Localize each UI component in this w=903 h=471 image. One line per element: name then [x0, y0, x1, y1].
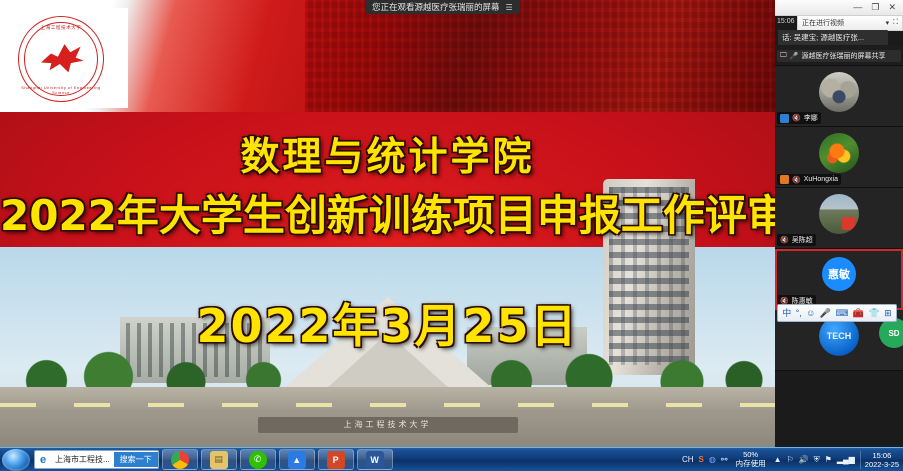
search-button[interactable]: 搜索一下 — [114, 452, 158, 467]
taskbar-app-wechat[interactable]: ✆ — [240, 449, 276, 470]
viewing-screen-label: 您正在观看源越医疗张瑞丽的屏幕 — [372, 1, 500, 13]
taskbar-app-word[interactable]: W — [357, 449, 393, 470]
security-icon[interactable]: ◍ — [709, 455, 716, 464]
screen-share-icon: 🖵 — [780, 52, 787, 60]
taskbar-app-chrome[interactable] — [162, 449, 198, 470]
participant-tile[interactable]: 惠敏 🔇 陈惠敏 — [775, 249, 903, 310]
file-explorer-icon: ▤ — [210, 451, 228, 469]
signal-icon[interactable]: ▂▄▆ — [837, 455, 855, 464]
chevron-down-icon[interactable]: ▾ — [886, 19, 890, 27]
participant-avatar-initials: 惠敏 — [822, 257, 856, 291]
participant-name-row: 🔇 吴陈超 — [777, 234, 816, 246]
ime-emoji-icon[interactable]: ☺ — [806, 309, 815, 318]
ie-address-bar[interactable]: e 上海市工程技... 搜索一下 — [34, 450, 159, 469]
tile-screen-share[interactable]: 🖵 🎤 源越医疗张瑞丽的屏幕共享 — [775, 46, 903, 66]
ime-punctuation-icon[interactable]: °, — [796, 309, 802, 318]
participant-thumbnail: TECH — [819, 316, 859, 356]
seal-top-text: 上海工程技术大学 — [18, 25, 104, 31]
hamburger-icon[interactable]: ☰ — [506, 3, 513, 12]
video-participants-panel: — ❐ ✕ 15:06 正在进行视频 ▾ ⛶ 🖵 🎤 源越医疗张瑞丽的屏幕共享 — [775, 0, 903, 447]
windows-start-orb[interactable] — [2, 449, 30, 471]
panel-subbar-title: 正在进行视频 — [802, 18, 882, 28]
keyboard-icon[interactable]: ⌨ — [835, 309, 848, 318]
internet-explorer-icon: e — [35, 454, 51, 466]
participant-avatar-green: SD — [879, 318, 903, 348]
panel-tooltip: 话: 吴建宝; 源越医疗张... — [778, 30, 888, 45]
host-badge-icon — [780, 114, 789, 123]
antivirus-icon[interactable]: ⛨ — [814, 455, 820, 465]
memory-label: 内存使用 — [736, 460, 766, 468]
expand-icon[interactable]: ⛶ — [893, 19, 898, 27]
university-seal-logo: 上海工程技术大学 Shanghai University of Engineer… — [18, 16, 104, 102]
system-tray: CH S ◍ ⚯ 50% 内存使用 ▲ ⚐ 🔊 ⛨ ⚑ ▂▄▆ 15:06 20… — [682, 451, 903, 469]
sogou-icon[interactable]: S — [699, 455, 704, 464]
slide-heading-college: 数理与统计学院 — [0, 126, 775, 182]
participant-name: 李娜 — [804, 113, 818, 123]
ime-chinese-mode-icon[interactable]: 中 — [782, 309, 791, 318]
action-center-icon[interactable]: ⚐ — [787, 455, 794, 464]
slide-heading-date: 2022年3月25日 — [0, 290, 775, 356]
ime-toolbar[interactable]: 中 °, ☺ 🎤 ⌨ 🧰 👕 ⊞ — [777, 304, 897, 322]
participant-tile-list[interactable]: 🖵 🎤 源越医疗张瑞丽的屏幕共享 🔇 李娜 — [775, 46, 903, 447]
network-icon[interactable]: ⚯ — [721, 455, 728, 464]
participant-tile[interactable]: 🔇 李娜 — [775, 66, 903, 127]
wechat-icon: ✆ — [249, 451, 267, 469]
chrome-icon — [171, 451, 189, 469]
clock-date: 2022-3-25 — [865, 460, 899, 469]
slide-body: 上海工程技术大学 数理与统计学院 2022年大学生创新训练项目申报工作评审会 2… — [0, 112, 775, 447]
screen-root: 上海工程技术大学 Shanghai University of Engineer… — [0, 0, 903, 471]
maximize-icon[interactable]: ❐ — [871, 3, 879, 12]
participant-name: XuHongxia — [804, 176, 838, 183]
mic-muted-icon: 🔇 — [792, 114, 801, 122]
mic-muted-icon: 🔇 — [792, 176, 801, 184]
powerpoint-icon: P — [327, 451, 345, 469]
participant-avatar-tech: TECH — [819, 316, 859, 356]
cohost-badge-icon — [780, 175, 789, 184]
taskbar-clock[interactable]: 15:06 2022-3-25 — [860, 451, 899, 469]
toolbox-icon[interactable]: 🧰 — [853, 309, 864, 318]
apps-icon[interactable]: ⊞ — [884, 309, 892, 318]
participant-name-row: 🔇 李娜 — [777, 112, 821, 124]
ie-address-text: 上海市工程技... — [51, 454, 114, 465]
participant-thumbnail — [819, 72, 859, 112]
plaza-sign-text: 上海工程技术大学 — [258, 417, 518, 433]
clock-time: 15:06 — [865, 451, 899, 460]
campus-plaza: 上海工程技术大学 — [0, 387, 775, 447]
microphone-icon: 🎤 — [790, 52, 799, 60]
close-icon[interactable]: ✕ — [888, 3, 896, 12]
volume-icon[interactable]: 🔊 — [799, 455, 809, 464]
participant-tile[interactable]: 🔇 XuHongxia — [775, 127, 903, 188]
screen-share-label: 源越医疗张瑞丽的屏幕共享 — [801, 51, 885, 61]
ime-indicator[interactable]: CH — [682, 455, 694, 464]
word-icon: W — [366, 451, 384, 469]
slide-heading-title: 2022年大学生创新训练项目申报工作评审会 — [0, 182, 775, 243]
seal-bottom-text: Shanghai University of Engineering Scien… — [18, 85, 104, 95]
microphone-icon[interactable]: 🎤 — [820, 309, 831, 318]
participant-name: 吴陈超 — [792, 235, 813, 245]
minimize-icon[interactable]: — — [853, 3, 862, 12]
shared-screen-content: 上海工程技术大学 Shanghai University of Engineer… — [0, 0, 775, 447]
participant-thumbnail — [819, 194, 859, 234]
xunlei-icon: ▲ — [288, 451, 306, 469]
show-hidden-icons-icon[interactable]: ▲ — [774, 455, 782, 464]
taskbar-app-file-explorer[interactable]: ▤ — [201, 449, 237, 470]
skin-icon[interactable]: 👕 — [869, 309, 880, 318]
taskbar-app-xunlei[interactable]: ▲ — [279, 449, 315, 470]
screen-share-label-row: 🖵 🎤 源越医疗张瑞丽的屏幕共享 — [777, 50, 901, 62]
viewing-screen-toast[interactable]: 您正在观看源越医疗张瑞丽的屏幕 ☰ — [365, 0, 520, 14]
participant-thumbnail — [819, 133, 859, 173]
memory-usage-indicator[interactable]: 50% 内存使用 — [733, 451, 769, 468]
panel-subbar[interactable]: 正在进行视频 ▾ ⛶ — [797, 16, 903, 31]
panel-titlebar: — ❐ ✕ — [775, 0, 903, 16]
panel-clock-overlay: 15:06 — [777, 18, 795, 25]
mic-muted-icon: 🔇 — [780, 236, 789, 244]
slide-banner: 上海工程技术大学 Shanghai University of Engineer… — [0, 0, 775, 112]
windows-taskbar: e 上海市工程技... 搜索一下 ▤ ✆ ▲ P W CH S ◍ ⚯ 50% — [0, 447, 903, 471]
taskbar-app-powerpoint[interactable]: P — [318, 449, 354, 470]
flag-icon[interactable]: ⚑ — [825, 455, 832, 464]
participant-tile[interactable]: 🔇 吴陈超 — [775, 188, 903, 249]
participant-name-row: 🔇 XuHongxia — [777, 174, 841, 185]
